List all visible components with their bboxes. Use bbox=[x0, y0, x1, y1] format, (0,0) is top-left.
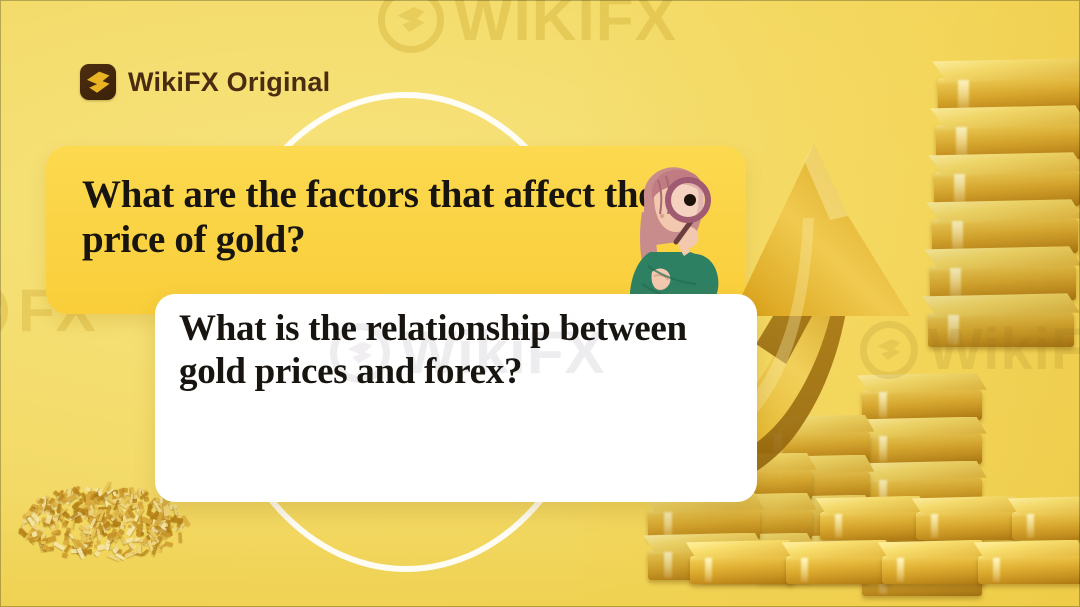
gold-chip bbox=[163, 537, 166, 540]
gold-chip bbox=[173, 527, 177, 532]
question-card-white-clip: WikiFX What is the relationship between … bbox=[155, 294, 757, 502]
gold-chip bbox=[178, 512, 181, 517]
question-two-text: What is the relationship between gold pr… bbox=[179, 308, 739, 394]
gold-chip bbox=[148, 505, 153, 511]
gold-chip bbox=[93, 550, 100, 557]
gold-chip bbox=[178, 532, 182, 543]
gold-chip bbox=[61, 552, 67, 558]
gold-chip bbox=[41, 541, 46, 544]
question-card-yellow: What are the factors that affect the pri… bbox=[46, 146, 746, 314]
gold-chip bbox=[71, 518, 75, 530]
brand-logo: WikiFX Original bbox=[80, 64, 330, 100]
gold-chip bbox=[141, 549, 149, 557]
gold-chip bbox=[165, 541, 173, 547]
question-one-text: What are the factors that affect the pri… bbox=[82, 172, 682, 262]
brand-name-label: WikiFX Original bbox=[128, 67, 330, 98]
poster-canvas: WIKIFX FX WikiFX WikiFX Original What ar… bbox=[0, 0, 1080, 607]
gold-chip bbox=[63, 544, 71, 553]
gold-chip bbox=[164, 505, 170, 516]
gold-chip bbox=[173, 517, 183, 523]
question-card-white: WikiFX What is the relationship between … bbox=[155, 294, 757, 502]
wikifx-eagle-logo-icon bbox=[80, 64, 116, 100]
gold-chip bbox=[85, 486, 91, 491]
